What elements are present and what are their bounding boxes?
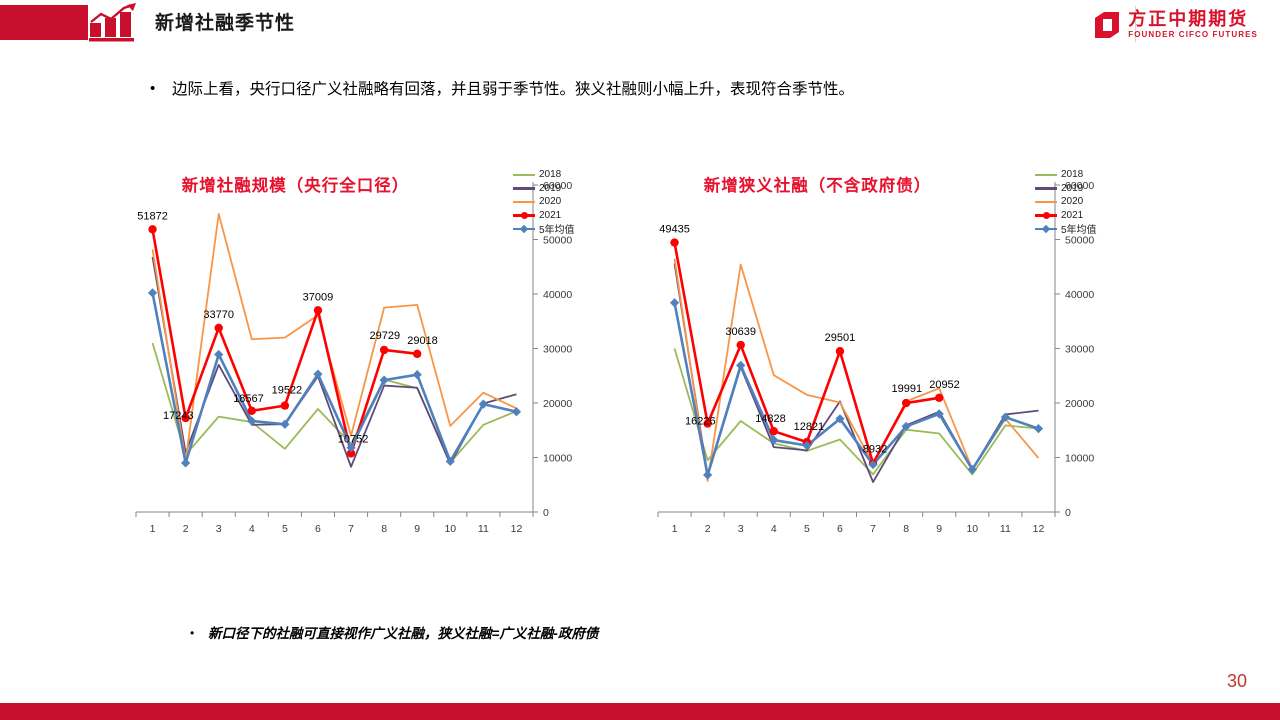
legend-swatch-icon: [513, 182, 535, 194]
legend-item-2018[interactable]: 2018: [513, 168, 593, 182]
y-tick-label: 40000: [543, 289, 572, 301]
y-tick-label: 40000: [1065, 289, 1094, 301]
logo-company-name-en: FOUNDER CIFCO FUTURES: [1128, 30, 1258, 40]
summary-bullet: • 边际上看，央行口径广义社融略有回落，并且弱于季节性。狭义社融则小幅上升，表现…: [150, 78, 1200, 101]
x-tick-label: 6: [315, 523, 321, 535]
legend-swatch-icon: [1035, 223, 1057, 235]
legend-swatch-icon: [1035, 169, 1057, 181]
x-tick-label: 8: [903, 523, 909, 535]
legend-swatch-icon: [1035, 209, 1057, 221]
y-tick-label: 50000: [1065, 235, 1094, 247]
x-tick-label: 12: [1033, 523, 1045, 535]
x-tick-label: 3: [738, 523, 744, 535]
x-tick-label: 11: [478, 523, 489, 535]
summary-text: 边际上看，央行口径广义社融略有回落，并且弱于季节性。狭义社融则小幅上升，表现符合…: [172, 78, 854, 101]
company-logo: 方正中期期货 FOUNDER CIFCO FUTURES: [1092, 8, 1258, 42]
legend-label: 2020: [1061, 196, 1083, 207]
data-point-marker: [413, 350, 421, 358]
data-point-marker: [836, 347, 844, 355]
data-point-marker: [902, 399, 910, 407]
chart-total-social-financing: 新增社融规模（央行全口径） 20182019202020215年均值 12345…: [118, 160, 628, 560]
page-header: 新增社融季节性 方正中期期货 FOUNDER CIFCO FUTURES: [0, 0, 1280, 52]
y-tick-label: 50000: [543, 235, 572, 247]
data-point-marker: [314, 306, 322, 314]
legend-swatch-icon: [513, 223, 535, 235]
data-point-marker: [1034, 424, 1043, 433]
y-tick-label: 10000: [543, 453, 572, 465]
legend-item-5年均值[interactable]: 5年均值: [513, 222, 593, 236]
x-tick-label: 6: [837, 523, 843, 535]
legend-swatch-icon: [513, 169, 535, 181]
data-point-marker: [512, 407, 521, 416]
x-tick-label: 4: [249, 523, 255, 535]
legend-item-2021[interactable]: 2021: [1035, 209, 1115, 223]
y-tick-label: 30000: [543, 344, 572, 356]
y-tick-label: 20000: [543, 398, 572, 410]
chart-title: 新增狭义社融（不含政府债）: [640, 172, 995, 196]
x-tick-label: 10: [966, 523, 978, 535]
y-tick-label: 20000: [1065, 398, 1094, 410]
data-label: 18567: [233, 393, 264, 405]
x-tick-label: 7: [348, 523, 354, 535]
legend-item-2018[interactable]: 2018: [1035, 168, 1115, 182]
data-point-marker: [703, 470, 712, 479]
chart-narrow-social-financing: 新增狭义社融（不含政府债） 20182019202020215年均值 12345…: [640, 160, 1150, 560]
data-label: 30639: [725, 326, 756, 338]
legend-label: 5年均值: [1061, 221, 1097, 236]
data-label: 19522: [272, 385, 303, 397]
legend-label: 5年均值: [539, 221, 575, 236]
data-point-marker: [281, 401, 289, 409]
y-tick-label: 30000: [1065, 344, 1094, 356]
data-label: 49435: [659, 224, 690, 236]
x-tick-label: 1: [150, 523, 156, 535]
page-number: 30: [1227, 671, 1247, 692]
data-point-marker: [148, 225, 156, 233]
x-tick-label: 9: [936, 523, 942, 535]
y-tick-label: 0: [1065, 507, 1071, 519]
y-tick-label: 10000: [1065, 453, 1094, 465]
x-tick-label: 8: [381, 523, 387, 535]
legend-label: 2021: [1061, 210, 1083, 221]
data-label: 29729: [370, 330, 401, 342]
legend-swatch-icon: [513, 209, 535, 221]
data-label: 20952: [929, 379, 960, 391]
x-tick-label: 10: [444, 523, 456, 535]
data-label: 14828: [755, 413, 786, 425]
legend-item-2020[interactable]: 2020: [1035, 195, 1115, 209]
legend-label: 2018: [1061, 169, 1083, 180]
legend-label: 2020: [539, 196, 561, 207]
bar-chart-arrow-icon: [88, 3, 140, 43]
x-tick-label: 12: [511, 523, 523, 535]
data-point-marker: [670, 298, 679, 307]
data-label: 37009: [303, 291, 334, 303]
data-point-marker: [380, 376, 389, 385]
legend-label: 2019: [1061, 183, 1083, 194]
footnote-text: 新口径下的社融可直接视作广义社融，狭义社融=广义社融-政府债: [208, 625, 598, 644]
bullet-marker: •: [150, 78, 172, 101]
page-title: 新增社融季节性: [155, 8, 295, 35]
data-point-marker: [413, 370, 422, 379]
legend-item-2020[interactable]: 2020: [513, 195, 593, 209]
chart-legend: 20182019202020215年均值: [513, 168, 593, 236]
footer-bar: [0, 703, 1280, 720]
data-label: 51872: [137, 210, 168, 222]
legend-item-2019[interactable]: 2019: [1035, 182, 1115, 196]
logo-company-name-cn: 方正中期期货: [1128, 10, 1258, 29]
legend-swatch-icon: [1035, 182, 1057, 194]
data-point-marker: [380, 346, 388, 354]
data-point-marker: [148, 288, 157, 297]
legend-item-2021[interactable]: 2021: [513, 209, 593, 223]
data-label: 17243: [163, 410, 194, 422]
footnote: • 新口径下的社融可直接视作广义社融，狭义社融=广义社融-政府债: [190, 625, 598, 644]
x-tick-label: 5: [804, 523, 810, 535]
data-label: 10752: [338, 433, 369, 445]
chart-title: 新增社融规模（央行全口径）: [118, 172, 473, 196]
data-label: 8932: [863, 443, 887, 455]
data-point-marker: [935, 394, 943, 402]
legend-swatch-icon: [1035, 196, 1057, 208]
data-label: 29501: [825, 332, 856, 344]
data-point-marker: [181, 458, 190, 467]
legend-label: 2018: [539, 169, 561, 180]
data-label: 33770: [203, 309, 234, 321]
founder-cifco-logo-icon: [1092, 10, 1122, 40]
data-label: 29018: [407, 335, 438, 347]
legend-item-2019[interactable]: 2019: [513, 182, 593, 196]
data-point-marker: [214, 350, 223, 359]
legend-label: 2019: [539, 183, 561, 194]
x-tick-label: 3: [216, 523, 222, 535]
x-tick-label: 4: [771, 523, 777, 535]
legend-item-5年均值[interactable]: 5年均值: [1035, 222, 1115, 236]
data-point-marker: [770, 427, 778, 435]
x-tick-label: 7: [870, 523, 876, 535]
data-label: 19991: [892, 383, 923, 395]
data-label: 16226: [685, 416, 716, 428]
footnote-marker: •: [190, 625, 208, 642]
y-tick-label: 0: [543, 507, 549, 519]
data-point-marker: [670, 238, 678, 246]
x-tick-label: 9: [414, 523, 420, 535]
data-point-marker: [736, 361, 745, 370]
data-point-marker: [215, 324, 223, 332]
data-point-marker: [248, 407, 256, 415]
x-tick-label: 11: [1000, 523, 1011, 535]
data-point-marker: [737, 341, 745, 349]
data-label: 12821: [794, 421, 825, 433]
legend-label: 2021: [539, 210, 561, 221]
legend-swatch-icon: [513, 196, 535, 208]
header-red-block: [0, 5, 88, 40]
x-tick-label: 5: [282, 523, 288, 535]
x-tick-label: 2: [183, 523, 189, 535]
x-tick-label: 1: [672, 523, 678, 535]
x-tick-label: 2: [705, 523, 711, 535]
chart-legend: 20182019202020215年均值: [1035, 168, 1115, 236]
